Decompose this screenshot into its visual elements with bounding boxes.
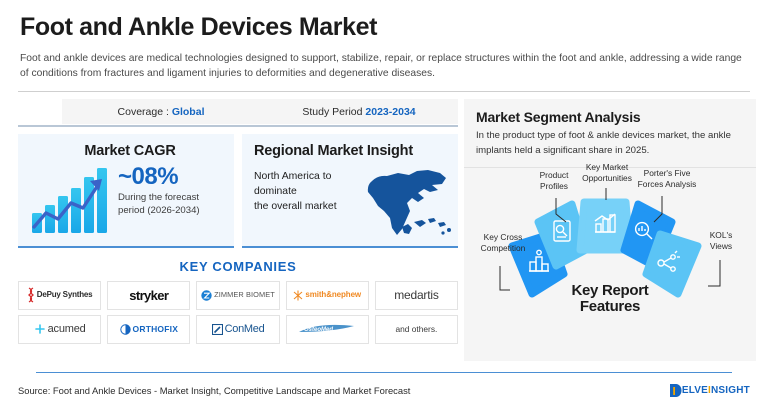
infographic-page: Foot and Ankle Devices Market Foot and a…	[0, 0, 768, 403]
brand-part-b: NSIGHT	[711, 385, 750, 396]
company-name: stryker	[129, 288, 168, 303]
fan-center-title: Key Report Features	[476, 283, 744, 317]
orthofix-mark-icon	[120, 324, 131, 335]
company-logo-and-others: and others.	[375, 315, 458, 344]
company-name: medartis	[394, 288, 438, 302]
coverage-underline	[18, 125, 458, 127]
segment-text: In the product type of foot & ankle devi…	[476, 129, 744, 158]
cagr-value: ~08%	[118, 165, 224, 189]
header: Foot and Ankle Devices Market Foot and a…	[0, 0, 768, 82]
regional-card-underline	[242, 246, 458, 248]
study-period-cell: Study Period 2023-2034	[260, 106, 458, 118]
company-logo-zimmer-biomet[interactable]: ZIMMER BIOMET	[196, 281, 279, 310]
coverage-strip: Coverage : Global Study Period 2023-2034	[62, 99, 458, 124]
depuy-helix-icon	[27, 287, 35, 303]
footer-divider	[36, 372, 732, 374]
coverage-value: Global	[172, 106, 205, 118]
company-name: ConMed	[225, 324, 265, 335]
right-column: Market Segment Analysis In the product t…	[464, 99, 756, 361]
body-content: Coverage : Global Study Period 2023-2034…	[0, 99, 768, 361]
company-logo-orthofix[interactable]: ORTHOFIX	[107, 315, 190, 344]
regional-insight-card: Regional Market Insight North America to…	[242, 134, 458, 248]
key-companies-row: DePuy Synthes stryker ZIMMER BIOMET	[18, 281, 458, 310]
company-logo-depuy-synthes[interactable]: DePuy Synthes	[18, 281, 101, 310]
fan-center-line1: Key Report	[476, 283, 744, 300]
company-logo-medartis[interactable]: medartis	[375, 281, 458, 310]
company-logo-stryker[interactable]: stryker	[107, 281, 190, 310]
zimmer-mark-icon	[201, 290, 212, 301]
key-report-features-diagram: Key Cross Competition Product Profiles K…	[476, 170, 744, 330]
company-name: DePuy Synthes	[37, 291, 93, 299]
company-name: smith&nephew	[305, 291, 361, 299]
market-segment-panel: Market Segment Analysis In the product t…	[464, 99, 756, 361]
delveinsight-logo[interactable]: ELVEINSIGHT	[669, 383, 750, 398]
fan-label-key-cross-competition: Key Cross Competition	[470, 232, 536, 254]
svg-text:OsteoMed: OsteoMed	[304, 327, 333, 333]
delveinsight-wordmark: ELVEINSIGHT	[682, 385, 750, 396]
company-logo-osteomed[interactable]: OsteoMed	[286, 315, 369, 344]
page-subtitle: Foot and ankle devices are medical techn…	[20, 51, 748, 83]
fan-segment-key-market-opportunities	[580, 202, 630, 250]
key-companies-grid: DePuy Synthes stryker ZIMMER BIOMET	[18, 281, 458, 344]
fan-label-porters-five-forces: Porter's Five Forces Analysis	[632, 168, 702, 190]
key-companies-title: KEY COMPANIES	[18, 259, 458, 274]
company-logo-acumed[interactable]: acumed	[18, 315, 101, 344]
footer: Source: Foot and Ankle Devices - Market …	[18, 383, 750, 398]
key-companies-row: acumed ORTHOFIX	[18, 315, 458, 344]
osteomed-swoosh-icon: OsteoMed	[298, 323, 356, 336]
north-america-map-icon	[354, 165, 458, 241]
source-text: Source: Foot and Ankle Devices - Market …	[18, 385, 410, 396]
company-name: acumed	[48, 324, 86, 335]
cagr-note: During the forecast period (2026-2034)	[118, 192, 224, 217]
company-name: ZIMMER BIOMET	[214, 291, 275, 298]
segment-heading: Market Segment Analysis	[476, 109, 744, 125]
regional-text: North America to dominate the overall ma…	[254, 165, 356, 241]
brand-part-a: ELVE	[682, 385, 708, 396]
coverage-label: Coverage :	[118, 106, 169, 118]
regional-heading: Regional Market Insight	[254, 143, 458, 159]
fan-label-key-market-opportunities: Key Market Opportunities	[574, 162, 640, 184]
market-cagr-card: Market CAGR	[18, 134, 234, 248]
smith-nephew-mark-icon	[293, 290, 303, 301]
fan-label-kols-views: KOL's Views	[698, 230, 744, 252]
company-name: and others.	[395, 324, 437, 334]
info-cards: Market CAGR	[18, 134, 458, 248]
coverage-cell: Coverage : Global	[62, 106, 260, 118]
company-logo-conmed[interactable]: ConMed	[196, 315, 279, 344]
fan-center-line2: Features	[476, 299, 744, 316]
header-divider	[18, 91, 750, 92]
left-column: Coverage : Global Study Period 2023-2034…	[18, 99, 458, 361]
cagr-card-underline	[18, 246, 234, 248]
cagr-heading: Market CAGR	[28, 143, 224, 159]
page-title: Foot and Ankle Devices Market	[20, 14, 748, 42]
cagr-bar-chart-icon	[28, 163, 114, 235]
study-period-value: 2023-2034	[365, 106, 415, 118]
acumed-plus-icon	[34, 323, 46, 335]
company-name: ORTHOFIX	[133, 325, 179, 334]
study-period-label: Study Period	[302, 106, 362, 118]
company-logo-smith-nephew[interactable]: smith&nephew	[286, 281, 369, 310]
delveinsight-mark-icon	[669, 383, 682, 398]
conmed-mark-icon	[212, 324, 223, 335]
